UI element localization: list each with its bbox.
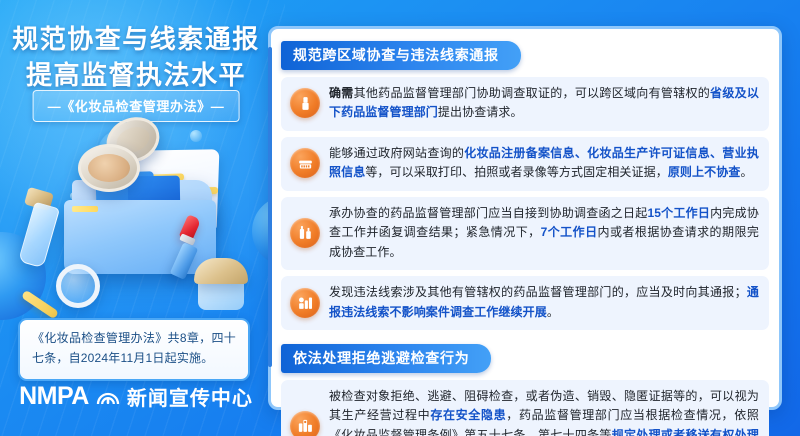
- compact-powder-base-icon: [78, 144, 140, 192]
- cosmetic-bottles-icon: [290, 218, 320, 248]
- body-text: 承办协查的药品监督管理部门应当自接到协助调查函之日起: [329, 206, 647, 220]
- toner-bottle-icon: [18, 202, 60, 269]
- page-title: 规范协查与线索通报 提高监督执法水平: [0, 22, 272, 94]
- body-text: 等，可以采取打印、拍照或者录像等方式固定相关证据，: [365, 165, 668, 179]
- list-item-text: 确需其他药品监督管理部门协助调查取证的，可以跨区域向有管辖权的省级及以下药品监督…: [329, 84, 759, 123]
- highlighted-text: 15个工作日: [647, 206, 710, 220]
- body-text: 。: [740, 165, 752, 179]
- eyeshadow-palette-icon: [290, 148, 320, 178]
- list-item: 发现违法线索涉及其他有管辖权的药品监督管理部门的，应当及时向其通报；通报违法线索…: [281, 276, 769, 330]
- list-item-text: 能够通过政府网站查询的化妆品注册备案信息、化妆品生产许可证信息、营业执照信息等，…: [329, 144, 759, 183]
- magnifier-handle: [21, 290, 59, 320]
- cream-jar-lid-icon: [194, 258, 248, 284]
- body-text: 。: [547, 305, 559, 319]
- list-item-text: 承办协查的药品监督管理部门应当自接到协助调查函之日起15个工作日内完成协查工作并…: [329, 204, 759, 262]
- cosmetics-set-icon: [290, 288, 320, 318]
- list-item: 能够通过政府网站查询的化妆品注册备案信息、化妆品生产许可证信息、营业执照信息等，…: [281, 137, 769, 191]
- footnote-box: 《化妆品检查管理办法》共8章，四十七条，自2024年11月1日起实施。: [18, 318, 250, 381]
- nmpa-logo: NMPA 新闻宣传中心: [0, 376, 272, 416]
- body-text: 其他药品监督管理部门协助调查取证的，可以跨区域向有管辖权的: [354, 86, 710, 100]
- highlighted-text: 存在安全隐患: [430, 408, 506, 422]
- infographic-poster: 规范协查与线索通报 提高监督执法水平 —《化妆品检查管理办法》—: [0, 0, 800, 436]
- lipstick-tube-icon: [290, 88, 320, 118]
- nmpa-wave-icon: [95, 383, 121, 409]
- body-text: 提出协查请求。: [438, 105, 523, 119]
- content-panel: 规范跨区域协查与违法线索通报确需其他药品监督管理部门协助调查取证的，可以跨区域向…: [268, 26, 782, 410]
- folder-tab: [72, 206, 98, 212]
- list-item: 承办协查的药品监督管理部门应当自接到协助调查函之日起15个工作日内完成协查工作并…: [281, 197, 769, 270]
- makeup-kit-icon: [290, 411, 320, 436]
- body-text: 确需: [329, 86, 354, 100]
- section-header-pill: 依法处理拒绝逃避检查行为: [281, 344, 491, 373]
- cosmetics-illustration: [0, 116, 272, 326]
- section-header-pill: 规范跨区域协查与违法线索通报: [281, 41, 521, 70]
- headline-line-2: 提高监督执法水平: [0, 58, 272, 94]
- panel-accent-bar: [268, 47, 272, 367]
- magnifying-glass-icon: [56, 264, 100, 308]
- headline-line-1: 规范协查与线索通报: [0, 22, 272, 58]
- content-section: 依法处理拒绝逃避检查行为被检查对象拒绝、逃避、阻碍检查，或者伪造、销毁、隐匿证据…: [281, 338, 769, 436]
- nmpa-wordmark: NMPA: [19, 382, 89, 411]
- sections-container: 规范跨区域协查与违法线索通报确需其他药品监督管理部门协助调查取证的，可以跨区域向…: [281, 35, 769, 436]
- list-item: 确需其他药品监督管理部门协助调查取证的，可以跨区域向有管辖权的省级及以下药品监督…: [281, 77, 769, 131]
- hero-column: 规范协查与线索通报 提高监督执法水平 —《化妆品检查管理办法》—: [0, 0, 272, 436]
- list-item-text: 发现违法线索涉及其他有管辖权的药品监督管理部门的，应当及时向其通报；通报违法线索…: [329, 283, 759, 322]
- list-item-text: 被检查对象拒绝、逃避、阻碍检查，或者伪造、销毁、隐匿证据等的，可以视为其生产经营…: [329, 387, 759, 436]
- cream-jar-body-icon: [198, 280, 244, 310]
- powder-pan: [88, 154, 130, 182]
- highlighted-text: 7个工作日: [541, 225, 598, 239]
- nmpa-chinese-name: 新闻宣传中心: [127, 382, 253, 411]
- highlighted-text: 原则上不协查: [668, 165, 741, 179]
- body-text: 能够通过政府网站查询的: [329, 146, 464, 160]
- body-text: 发现违法线索涉及其他有管辖权的药品监督管理部门的，应当及时向其通报；: [329, 285, 747, 299]
- content-section: 规范跨区域协查与违法线索通报确需其他药品监督管理部门协助调查取证的，可以跨区域向…: [281, 35, 769, 330]
- list-item: 被检查对象拒绝、逃避、阻碍检查，或者伪造、销毁、隐匿证据等的，可以视为其生产经营…: [281, 380, 769, 436]
